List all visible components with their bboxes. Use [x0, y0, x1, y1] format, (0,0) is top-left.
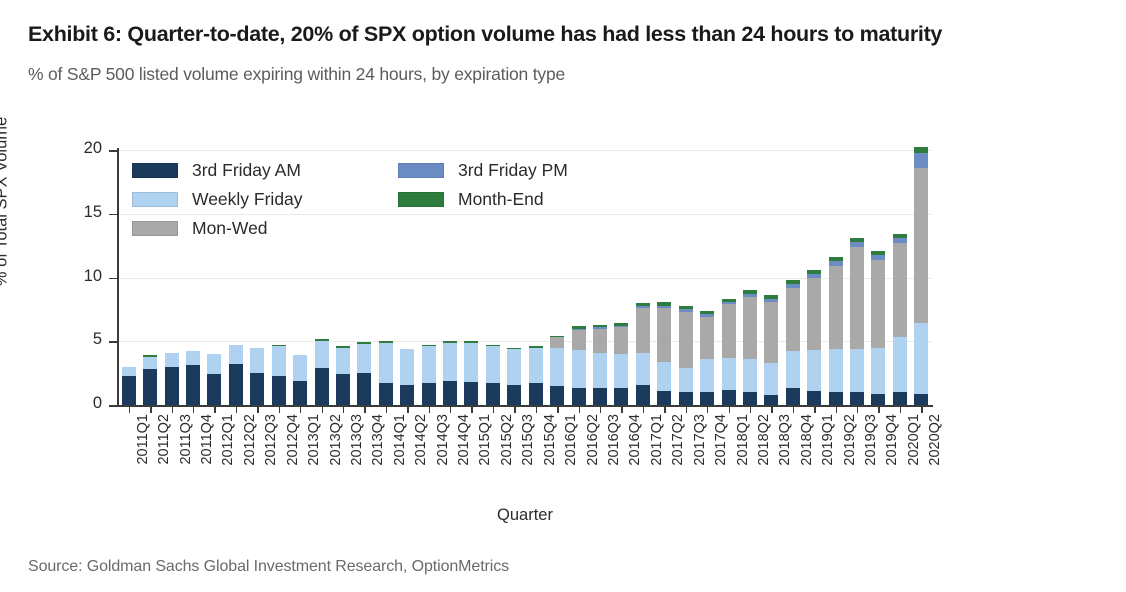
- bar-segment: [507, 385, 521, 405]
- bar-segment: [722, 299, 736, 302]
- bar-segment: [443, 381, 457, 405]
- bar-segment: [550, 337, 564, 347]
- bar-segment: [829, 257, 843, 261]
- bar-segment: [657, 391, 671, 405]
- bar-segment: [572, 330, 586, 350]
- y-tick-label: 0: [62, 394, 102, 413]
- bar-segment: [636, 385, 650, 405]
- x-tick-label: 2016Q1: [563, 414, 579, 500]
- bar-segment: [400, 385, 414, 405]
- bar-segment: [614, 326, 628, 327]
- bar-segment: [336, 348, 350, 375]
- bar-segment: [272, 345, 286, 346]
- y-tick-label: 15: [62, 203, 102, 222]
- bar-2019Q2: [829, 257, 843, 405]
- bar-segment: [722, 358, 736, 390]
- bar-segment: [850, 247, 864, 349]
- bar-segment: [207, 374, 221, 405]
- bar-segment: [764, 295, 778, 299]
- bar-2016Q3: [593, 325, 607, 405]
- x-tick-label: 2014Q1: [392, 414, 408, 500]
- bar-segment: [807, 270, 821, 274]
- bar-segment: [186, 351, 200, 365]
- bar-segment: [572, 326, 586, 329]
- bar-segment: [914, 168, 928, 324]
- bar-segment: [893, 337, 907, 392]
- bar-2015Q4: [529, 346, 543, 405]
- x-tick-label: 2011Q1: [135, 414, 151, 500]
- x-tick-mark: [129, 405, 130, 413]
- bar-segment: [679, 392, 693, 405]
- bar-segment: [250, 348, 264, 374]
- bar-segment: [529, 348, 543, 384]
- source-note: Source: Goldman Sachs Global Investment …: [28, 558, 509, 576]
- bar-segment: [871, 394, 885, 405]
- bar-segment: [871, 251, 885, 255]
- bar-segment: [357, 344, 371, 373]
- bar-segment: [593, 327, 607, 328]
- bar-segment: [850, 392, 864, 405]
- bar-segment: [829, 261, 843, 266]
- bar-2013Q4: [357, 342, 371, 405]
- x-tick-label: 2014Q4: [456, 414, 472, 500]
- bar-segment: [165, 353, 179, 367]
- bar-segment: [743, 359, 757, 392]
- x-tick-mark: [514, 405, 515, 413]
- bar-segment: [700, 359, 714, 392]
- bar-segment: [700, 314, 714, 317]
- x-tick-label: 2019Q1: [820, 414, 836, 500]
- bar-segment: [700, 317, 714, 359]
- x-tick-mark: [236, 405, 237, 413]
- legend-label: 3rd Friday PM: [458, 160, 568, 181]
- bar-segment: [293, 355, 307, 381]
- x-tick-mark: [921, 405, 922, 413]
- y-axis-title: % of Total SPX Volume: [0, 32, 12, 372]
- y-tick-mark: [109, 214, 118, 216]
- x-tick-mark: [214, 405, 215, 413]
- y-tick-mark: [109, 150, 118, 152]
- x-tick-mark: [364, 405, 365, 413]
- x-tick-label: 2013Q3: [349, 414, 365, 500]
- bar-segment: [636, 306, 650, 309]
- x-tick-label: 2018Q3: [777, 414, 793, 500]
- x-tick-label: 2020Q2: [927, 414, 943, 500]
- x-tick-mark: [836, 405, 837, 413]
- bar-segment: [722, 302, 736, 305]
- bar-segment: [722, 304, 736, 358]
- x-tick-mark: [322, 405, 323, 413]
- bar-segment: [786, 280, 800, 284]
- x-tick-mark: [300, 405, 301, 413]
- x-tick-label: 2014Q2: [413, 414, 429, 500]
- legend-item-month-end[interactable]: Month-End: [398, 189, 544, 210]
- bar-segment: [743, 392, 757, 405]
- bar-segment: [657, 306, 671, 309]
- bar-segment: [679, 309, 693, 312]
- x-tick-label: 2013Q1: [306, 414, 322, 500]
- bar-segment: [593, 329, 607, 353]
- bar-segment: [550, 386, 564, 405]
- x-tick-label: 2018Q4: [799, 414, 815, 500]
- bar-segment: [529, 346, 543, 347]
- bar-segment: [850, 349, 864, 392]
- x-tick-mark: [750, 405, 751, 413]
- bar-segment: [829, 266, 843, 349]
- x-tick-label: 2013Q2: [328, 414, 344, 500]
- x-tick-label: 2011Q2: [156, 414, 172, 500]
- x-tick-label: 2017Q1: [649, 414, 665, 500]
- y-tick-mark: [109, 278, 118, 280]
- x-tick-label: 2011Q4: [199, 414, 215, 500]
- x-tick-label: 2016Q4: [627, 414, 643, 500]
- legend-item-3rd-friday-am[interactable]: 3rd Friday AM: [132, 160, 301, 181]
- bar-segment: [229, 345, 243, 364]
- legend-item-3rd-friday-pm[interactable]: 3rd Friday PM: [398, 160, 568, 181]
- bar-segment: [593, 353, 607, 389]
- bar-segment: [572, 329, 586, 330]
- x-tick-label: 2015Q3: [520, 414, 536, 500]
- bar-segment: [315, 339, 329, 341]
- x-tick-label: 2018Q1: [735, 414, 751, 500]
- x-tick-mark: [707, 405, 708, 413]
- bar-segment: [507, 349, 521, 385]
- bar-segment: [786, 351, 800, 388]
- bar-segment: [764, 363, 778, 395]
- chart-legend: 3rd Friday AM3rd Friday PMWeekly FridayM…: [132, 160, 592, 247]
- x-tick-mark: [257, 405, 258, 413]
- bar-2015Q1: [464, 341, 478, 405]
- x-tick-mark: [172, 405, 173, 413]
- bar-2019Q3: [850, 238, 864, 405]
- x-tick-label: 2018Q2: [756, 414, 772, 500]
- x-tick-label: 2012Q1: [220, 414, 236, 500]
- bar-segment: [764, 302, 778, 363]
- x-tick-mark: [471, 405, 472, 413]
- bar-segment: [315, 341, 329, 368]
- bar-2018Q2: [743, 290, 757, 405]
- x-axis-labels: 2011Q12011Q22011Q32011Q42012Q12012Q22012…: [118, 414, 932, 506]
- bar-segment: [914, 394, 928, 405]
- bar-segment: [379, 341, 393, 343]
- bar-segment: [464, 341, 478, 342]
- bar-segment: [914, 153, 928, 168]
- bar-segment: [807, 350, 821, 391]
- bar-2018Q1: [722, 299, 736, 405]
- bar-segment: [764, 299, 778, 302]
- y-tick-label: 5: [62, 330, 102, 349]
- legend-label: 3rd Friday AM: [192, 160, 301, 181]
- bar-segment: [143, 355, 157, 357]
- x-tick-mark: [793, 405, 794, 413]
- bar-2017Q4: [700, 311, 714, 405]
- bar-2018Q3: [764, 295, 778, 405]
- bar-segment: [914, 147, 928, 152]
- legend-row: Mon-Wed: [132, 218, 592, 247]
- bar-2012Q2: [229, 345, 243, 405]
- bar-segment: [550, 348, 564, 386]
- bar-segment: [336, 346, 350, 347]
- bar-segment: [143, 369, 157, 405]
- x-tick-label: 2015Q4: [542, 414, 558, 500]
- x-tick-mark: [729, 405, 730, 413]
- x-tick-mark: [771, 405, 772, 413]
- bar-segment: [507, 348, 521, 349]
- x-tick-mark: [557, 405, 558, 413]
- bar-segment: [165, 367, 179, 405]
- x-tick-label: 2013Q4: [370, 414, 386, 500]
- bar-segment: [379, 343, 393, 384]
- bar-segment: [829, 392, 843, 405]
- bar-segment: [593, 388, 607, 405]
- bar-2014Q3: [422, 345, 436, 405]
- legend-item-weekly-friday[interactable]: Weekly Friday: [132, 189, 303, 210]
- x-tick-mark: [857, 405, 858, 413]
- legend-label: Weekly Friday: [192, 189, 303, 210]
- legend-label: Month-End: [458, 189, 544, 210]
- bar-2015Q3: [507, 348, 521, 405]
- bar-segment: [636, 353, 650, 385]
- x-tick-label: 2015Q2: [499, 414, 515, 500]
- bar-segment: [807, 391, 821, 405]
- bar-2016Q4: [614, 323, 628, 405]
- legend-row: Weekly FridayMonth-End: [132, 189, 592, 218]
- bar-segment: [914, 323, 928, 393]
- bar-2014Q1: [379, 341, 393, 405]
- bar-segment: [871, 260, 885, 348]
- bar-segment: [679, 306, 693, 309]
- bar-2012Q3: [250, 348, 264, 405]
- bar-segment: [893, 392, 907, 405]
- bar-segment: [122, 367, 136, 376]
- bar-segment: [122, 376, 136, 405]
- x-tick-label: 2012Q3: [263, 414, 279, 500]
- bar-segment: [871, 348, 885, 394]
- x-tick-label: 2012Q2: [242, 414, 258, 500]
- x-tick-mark: [643, 405, 644, 413]
- x-tick-label: 2015Q1: [477, 414, 493, 500]
- bar-2013Q3: [336, 346, 350, 405]
- legend-item-mon-wed[interactable]: Mon-Wed: [132, 218, 268, 239]
- bar-segment: [529, 383, 543, 405]
- bar-segment: [700, 311, 714, 314]
- bar-segment: [722, 390, 736, 405]
- bar-2011Q1: [122, 367, 136, 405]
- bar-segment: [550, 336, 564, 338]
- bar-segment: [272, 376, 286, 405]
- x-tick-mark: [429, 405, 430, 413]
- bar-2011Q2: [143, 355, 157, 405]
- x-tick-mark: [579, 405, 580, 413]
- x-tick-mark: [343, 405, 344, 413]
- bar-2016Q1: [550, 336, 564, 405]
- legend-swatch-icon: [398, 192, 444, 207]
- bar-segment: [422, 345, 436, 346]
- x-axis-title: Quarter: [118, 506, 932, 525]
- x-tick-mark: [386, 405, 387, 413]
- x-tick-label: 2016Q3: [606, 414, 622, 500]
- legend-swatch-icon: [132, 192, 178, 207]
- bar-segment: [786, 284, 800, 288]
- bar-segment: [743, 297, 757, 359]
- bar-segment: [893, 234, 907, 238]
- y-tick-label: 20: [62, 139, 102, 158]
- x-tick-label: 2017Q4: [713, 414, 729, 500]
- x-tick-label: 2020Q1: [906, 414, 922, 500]
- bar-2014Q4: [443, 341, 457, 405]
- bar-segment: [464, 382, 478, 405]
- bar-segment: [786, 288, 800, 352]
- x-tick-mark: [900, 405, 901, 413]
- bar-segment: [572, 350, 586, 388]
- bar-segment: [850, 242, 864, 247]
- bar-segment: [357, 373, 371, 405]
- bar-2014Q2: [400, 349, 414, 405]
- bar-2015Q2: [486, 345, 500, 405]
- y-tick-label: 10: [62, 267, 102, 286]
- bar-2013Q1: [293, 355, 307, 405]
- bar-2020Q2: [914, 147, 928, 405]
- bar-2011Q3: [165, 353, 179, 405]
- y-tick-mark: [109, 341, 118, 343]
- legend-swatch-icon: [398, 163, 444, 178]
- bar-2016Q2: [572, 326, 586, 405]
- bar-segment: [786, 388, 800, 405]
- bar-segment: [486, 345, 500, 346]
- x-tick-mark: [536, 405, 537, 413]
- legend-label: Mon-Wed: [192, 218, 268, 239]
- stacked-bar-chart: % of Total SPX Volume 05101520 2011Q1201…: [0, 0, 1126, 545]
- bar-segment: [679, 368, 693, 392]
- x-tick-label: 2019Q2: [842, 414, 858, 500]
- x-tick-mark: [279, 405, 280, 413]
- bar-segment: [207, 354, 221, 374]
- legend-row: 3rd Friday AM3rd Friday PM: [132, 160, 592, 189]
- bar-segment: [657, 362, 671, 391]
- x-tick-label: 2017Q2: [670, 414, 686, 500]
- bar-segment: [486, 346, 500, 383]
- x-axis-line: [117, 405, 933, 407]
- legend-swatch-icon: [132, 221, 178, 236]
- bar-segment: [829, 349, 843, 392]
- x-tick-mark: [686, 405, 687, 413]
- bar-segment: [743, 290, 757, 294]
- x-tick-mark: [600, 405, 601, 413]
- bar-segment: [229, 364, 243, 405]
- bar-2011Q4: [186, 351, 200, 405]
- x-tick-mark: [814, 405, 815, 413]
- bar-segment: [636, 303, 650, 306]
- bar-segment: [464, 343, 478, 383]
- bar-segment: [807, 278, 821, 351]
- bar-segment: [807, 274, 821, 278]
- x-tick-label: 2017Q3: [692, 414, 708, 500]
- bar-2012Q4: [272, 345, 286, 405]
- bar-2012Q1: [207, 354, 221, 405]
- bar-segment: [636, 308, 650, 353]
- bar-segment: [486, 383, 500, 405]
- x-tick-mark: [664, 405, 665, 413]
- bar-segment: [614, 354, 628, 388]
- bar-2017Q3: [679, 306, 693, 405]
- bar-segment: [871, 255, 885, 260]
- x-tick-label: 2014Q3: [435, 414, 451, 500]
- x-tick-label: 2012Q4: [285, 414, 301, 500]
- bar-segment: [614, 388, 628, 405]
- bar-segment: [679, 312, 693, 368]
- bar-segment: [250, 373, 264, 405]
- bar-2019Q4: [871, 251, 885, 405]
- bar-segment: [379, 383, 393, 405]
- bar-2017Q1: [636, 303, 650, 405]
- y-tick-mark: [109, 405, 118, 407]
- bar-segment: [272, 346, 286, 375]
- bar-segment: [614, 323, 628, 326]
- bar-segment: [593, 325, 607, 328]
- bar-segment: [657, 302, 671, 305]
- bar-segment: [443, 343, 457, 381]
- bar-segment: [893, 238, 907, 243]
- bar-segment: [357, 342, 371, 344]
- bar-segment: [572, 388, 586, 405]
- bar-segment: [422, 383, 436, 405]
- x-tick-mark: [150, 405, 151, 413]
- bar-2013Q2: [315, 339, 329, 405]
- bar-segment: [893, 243, 907, 337]
- x-tick-mark: [450, 405, 451, 413]
- bar-2018Q4: [786, 280, 800, 405]
- bar-segment: [336, 374, 350, 405]
- bar-segment: [743, 294, 757, 297]
- bar-segment: [443, 341, 457, 342]
- x-tick-mark: [621, 405, 622, 413]
- bar-segment: [700, 392, 714, 405]
- bar-2020Q1: [893, 234, 907, 405]
- x-tick-mark: [193, 405, 194, 413]
- bar-2019Q1: [807, 270, 821, 405]
- x-tick-label: 2011Q3: [178, 414, 194, 500]
- bar-segment: [143, 357, 157, 370]
- x-tick-label: 2019Q3: [863, 414, 879, 500]
- bar-segment: [293, 381, 307, 405]
- x-tick-mark: [407, 405, 408, 413]
- bar-segment: [850, 238, 864, 242]
- bar-2017Q2: [657, 302, 671, 405]
- bar-segment: [614, 327, 628, 354]
- x-tick-mark: [493, 405, 494, 413]
- bar-segment: [186, 365, 200, 405]
- bar-segment: [315, 368, 329, 405]
- bar-segment: [657, 308, 671, 362]
- bar-segment: [400, 349, 414, 385]
- x-tick-label: 2019Q4: [884, 414, 900, 500]
- x-tick-label: 2016Q2: [585, 414, 601, 500]
- bar-segment: [764, 395, 778, 405]
- bar-segment: [422, 346, 436, 383]
- legend-swatch-icon: [132, 163, 178, 178]
- x-tick-mark: [878, 405, 879, 413]
